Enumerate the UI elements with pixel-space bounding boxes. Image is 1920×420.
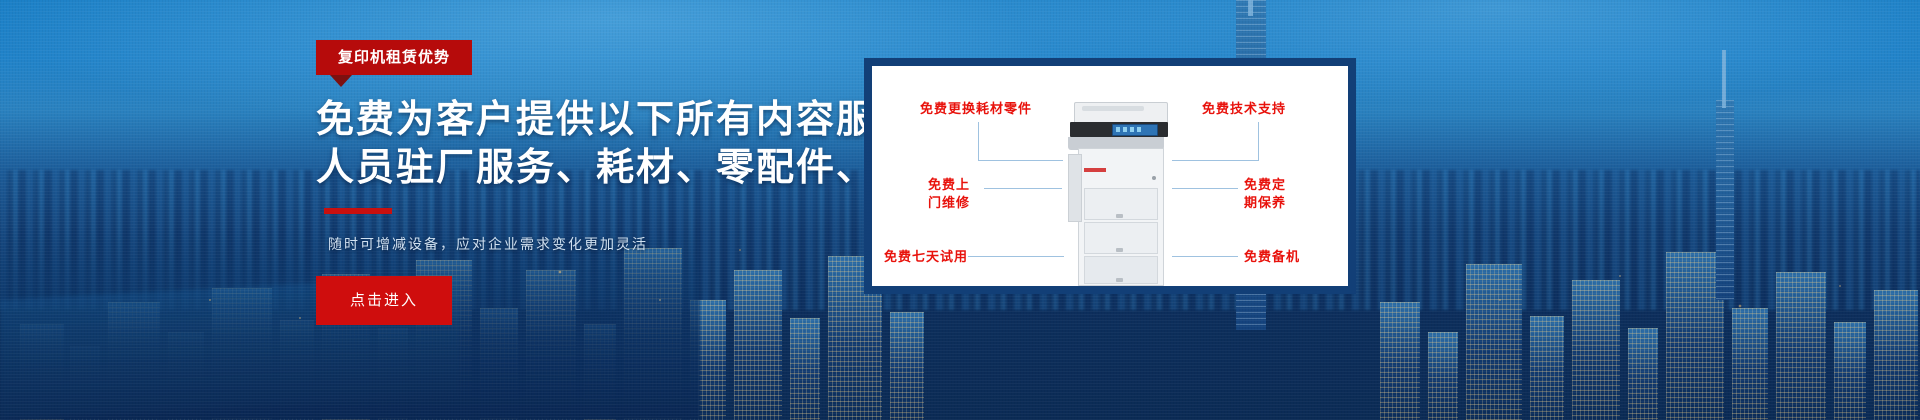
feature-label-scheduled-maintenance: 免费定 期保养 bbox=[1244, 176, 1302, 211]
copier-power-indicator bbox=[1152, 176, 1156, 180]
connector-scheduled-maintenance bbox=[1172, 188, 1238, 189]
advantage-badge: 复印机租赁优势 bbox=[316, 40, 472, 75]
onsite-repair-line-2: 门维修 bbox=[928, 195, 970, 210]
title-divider bbox=[324, 208, 392, 214]
headline-line-2: 人员驻厂服务、耗材、零配件、人工费 bbox=[316, 145, 876, 193]
hero-copy: 复印机租赁优势 免费为客户提供以下所有内容服务： 人员驻厂服务、耗材、零配件、人… bbox=[316, 40, 876, 325]
feature-label-seven-day-trial: 免费七天试用 bbox=[884, 248, 968, 266]
copier-machine-image bbox=[1068, 102, 1172, 286]
copier-brand-logo bbox=[1084, 168, 1106, 172]
onsite-repair-line-1: 免费上 bbox=[928, 177, 970, 192]
page-title: 免费为客户提供以下所有内容服务： 人员驻厂服务、耗材、零配件、人工费 bbox=[316, 97, 876, 192]
feature-label-replace-consumables: 免费更换耗材零件 bbox=[920, 100, 1032, 118]
copier-drawer-handle-1 bbox=[1116, 214, 1123, 218]
connector-seven-day-trial bbox=[968, 256, 1064, 257]
enter-button[interactable]: 点击进入 bbox=[316, 276, 452, 325]
connector-backup-machine bbox=[1172, 256, 1238, 257]
features-panel-inner: 免费更换耗材零件 免费技术支持 免费上 门维修 免费定 期保养 免费七天试用 免… bbox=[872, 66, 1348, 286]
connector-replace-consumables bbox=[978, 122, 1063, 161]
hero-subtitle: 随时可增减设备，应对企业需求变化更加灵活 bbox=[328, 234, 876, 254]
copier-drawer-handle-2 bbox=[1116, 248, 1123, 252]
advantage-badge-label: 复印机租赁优势 bbox=[338, 49, 450, 66]
copier-bypass-tray bbox=[1068, 154, 1082, 222]
badge-pointer-icon bbox=[330, 75, 352, 87]
headline-line-1: 免费为客户提供以下所有内容服务： bbox=[316, 99, 956, 141]
hero-banner: 复印机租赁优势 免费为客户提供以下所有内容服务： 人员驻厂服务、耗材、零配件、人… bbox=[0, 0, 1920, 420]
copier-feeder-tray bbox=[1082, 106, 1144, 111]
feature-label-backup-machine: 免费备机 bbox=[1244, 248, 1300, 266]
scheduled-maintenance-line-1: 免费定 bbox=[1244, 177, 1286, 192]
feature-label-onsite-repair: 免费上 门维修 bbox=[928, 176, 986, 211]
connector-onsite-repair bbox=[984, 188, 1062, 189]
scheduled-maintenance-line-2: 期保养 bbox=[1244, 195, 1286, 210]
feature-label-tech-support: 免费技术支持 bbox=[1202, 100, 1286, 118]
features-panel: 免费更换耗材零件 免费技术支持 免费上 门维修 免费定 期保养 免费七天试用 免… bbox=[864, 58, 1356, 294]
connector-tech-support bbox=[1172, 122, 1259, 161]
copier-drawer-handle-3 bbox=[1116, 278, 1123, 282]
copier-control-panel bbox=[1112, 124, 1158, 136]
